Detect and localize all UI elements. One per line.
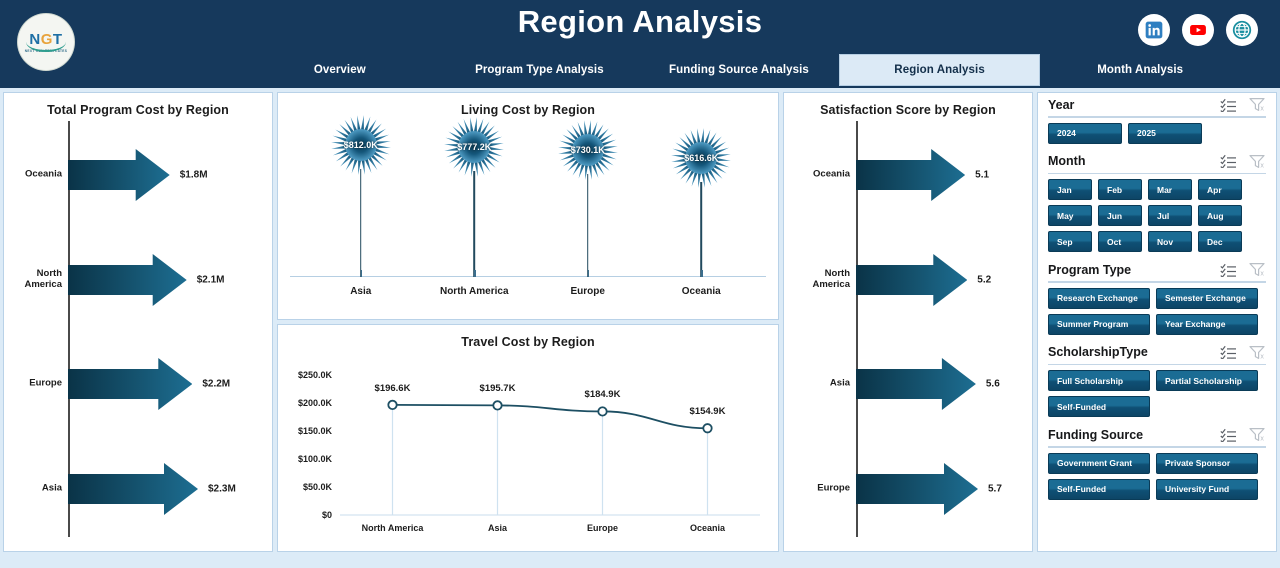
filter-header: Funding Sourcex <box>1046 423 1268 444</box>
tab-label: Month Analysis <box>1097 64 1183 76</box>
filter-header: Monthx <box>1046 150 1268 171</box>
filter-header: Yearx <box>1046 93 1268 114</box>
bar-arrow <box>68 463 198 515</box>
filter-chip-apr[interactable]: Apr <box>1198 179 1242 200</box>
main-tabs: OverviewProgram Type AnalysisFunding Sou… <box>240 54 1240 86</box>
living-cost-value-label: $616.6K <box>684 153 718 163</box>
filter-options: Full ScholarshipPartial ScholarshipSelf-… <box>1046 370 1268 423</box>
bar-value-label: $2.1M <box>197 274 225 285</box>
website-icon[interactable] <box>1226 14 1258 46</box>
filter-options: 20242025 <box>1046 123 1268 150</box>
filter-divider <box>1048 281 1266 283</box>
living-cost-value-label: $812.0K <box>344 140 378 150</box>
filter-chip-semester-exchange[interactable]: Semester Exchange <box>1156 288 1258 309</box>
chart-total-program-cost: Oceania$1.8MNorth America$2.1MEurope$2.2… <box>4 117 272 549</box>
linkedin-icon[interactable] <box>1138 14 1170 46</box>
filter-chip-research-exchange[interactable]: Research Exchange <box>1048 288 1150 309</box>
filter-section-scholarshiptype: ScholarshipTypexFull ScholarshipPartial … <box>1038 341 1276 424</box>
filter-chip-private-sponsor[interactable]: Private Sponsor <box>1156 453 1258 474</box>
tab-program-type-analysis[interactable]: Program Type Analysis <box>440 54 640 86</box>
filter-divider <box>1048 116 1266 118</box>
chart-living-cost: $812.0KAsia$777.2KNorth America$730.1KEu… <box>278 117 778 303</box>
x-axis-category-label: Asia <box>488 523 507 533</box>
filter-title: ScholarshipType <box>1048 345 1148 359</box>
lollipop-stem <box>700 182 702 277</box>
multi-select-icon[interactable] <box>1220 98 1237 112</box>
panel-satisfaction-score: Satisfaction Score by Region Oceania5.1N… <box>783 92 1033 552</box>
tab-funding-source-analysis[interactable]: Funding Source Analysis <box>639 54 839 86</box>
lollipop-stem <box>360 169 362 277</box>
multi-select-icon[interactable] <box>1220 263 1237 277</box>
x-axis-category-label: North America <box>362 523 424 533</box>
filter-chip-oct[interactable]: Oct <box>1098 231 1142 252</box>
multi-select-icon[interactable] <box>1220 345 1237 359</box>
bar-arrow <box>856 463 978 515</box>
living-cost-category-label: North America <box>418 286 532 297</box>
bar-value-label: 5.6 <box>986 379 1000 390</box>
filter-action-icons: x <box>1220 262 1266 277</box>
filter-chip-jun[interactable]: Jun <box>1098 205 1142 226</box>
bar-category-label: Europe <box>786 483 850 494</box>
filter-title: Year <box>1048 98 1074 112</box>
filter-chip-jul[interactable]: Jul <box>1148 205 1192 226</box>
clear-filter-icon[interactable]: x <box>1249 262 1266 277</box>
filter-chip-government-grant[interactable]: Government Grant <box>1048 453 1150 474</box>
tab-label: Program Type Analysis <box>475 64 604 76</box>
filter-options: JanFebMarAprMayJunJulAugSepOctNovDec <box>1046 179 1268 258</box>
travel-cost-value-label: $154.9K <box>690 406 726 417</box>
bar-category-label: Oceania <box>6 170 62 181</box>
svg-text:x: x <box>1260 435 1264 442</box>
filter-chip-mar[interactable]: Mar <box>1148 179 1192 200</box>
multi-select-icon[interactable] <box>1220 428 1237 442</box>
tab-region-analysis[interactable]: Region Analysis <box>839 54 1041 86</box>
bar-value-label: $2.3M <box>208 483 236 494</box>
filter-chip-2025[interactable]: 2025 <box>1128 123 1202 144</box>
filter-chip-nov[interactable]: Nov <box>1148 231 1192 252</box>
filter-chip-partial-scholarship[interactable]: Partial Scholarship <box>1156 370 1258 391</box>
lollipop-stem <box>473 171 475 277</box>
filter-divider <box>1048 173 1266 175</box>
bar-value-label: 5.1 <box>975 170 989 181</box>
filter-chip-may[interactable]: May <box>1048 205 1092 226</box>
bar-category-label: North America <box>6 269 62 291</box>
youtube-icon[interactable] <box>1182 14 1214 46</box>
filter-chip-summer-program[interactable]: Summer Program <box>1048 314 1150 335</box>
clear-filter-icon[interactable]: x <box>1249 427 1266 442</box>
app-header: NGT NEXT GEN TEMPLATES Region Analysis O… <box>0 0 1280 88</box>
chart-title-satisfaction-score: Satisfaction Score by Region <box>784 93 1032 117</box>
filter-chip-aug[interactable]: Aug <box>1198 205 1242 226</box>
chart-satisfaction-score: Oceania5.1North America5.2Asia5.6Europe5… <box>784 117 1032 549</box>
tab-month-analysis[interactable]: Month Analysis <box>1040 54 1240 86</box>
filter-section-program-type: Program TypexResearch ExchangeSemester E… <box>1038 258 1276 341</box>
axis-tick <box>588 270 589 277</box>
living-cost-category-label: Asia <box>304 286 418 297</box>
living-cost-category-label: Oceania <box>645 286 759 297</box>
clear-filter-icon[interactable]: x <box>1249 345 1266 360</box>
lollipop-stem <box>587 174 589 277</box>
svg-text:x: x <box>1260 105 1264 112</box>
bar-category-label: Asia <box>6 483 62 494</box>
chart-travel-cost: $0$50.0K$100.0K$150.0K$200.0K$250.0K$196… <box>278 349 778 545</box>
tab-overview[interactable]: Overview <box>240 54 440 86</box>
travel-cost-value-label: $184.9K <box>585 389 621 400</box>
tab-label: Region Analysis <box>894 64 985 76</box>
filter-divider <box>1048 446 1266 448</box>
filter-divider <box>1048 364 1266 366</box>
chart-title-living-cost: Living Cost by Region <box>278 93 778 117</box>
tab-label: Overview <box>314 64 366 76</box>
filter-chip-jan[interactable]: Jan <box>1048 179 1092 200</box>
living-cost-value-label: $777.2K <box>457 142 491 152</box>
panel-living-cost: Living Cost by Region $812.0KAsia$777.2K… <box>277 92 779 320</box>
filter-action-icons: x <box>1220 345 1266 360</box>
page-title: Region Analysis <box>0 4 1280 40</box>
filter-header: Program Typex <box>1046 258 1268 279</box>
axis-tick <box>361 270 362 277</box>
panel-travel-cost: Travel Cost by Region $0$50.0K$100.0K$15… <box>277 324 779 552</box>
x-axis-category-label: Oceania <box>690 523 725 533</box>
svg-text:x: x <box>1260 162 1264 169</box>
svg-text:x: x <box>1260 353 1264 360</box>
filter-options: Government GrantPrivate SponsorSelf-Fund… <box>1046 453 1268 506</box>
filter-header: ScholarshipTypex <box>1046 341 1268 362</box>
filter-section-month: MonthxJanFebMarAprMayJunJulAugSepOctNovD… <box>1038 150 1276 259</box>
bar-value-label: $1.8M <box>180 170 208 181</box>
bar-value-label: $2.2M <box>202 379 230 390</box>
living-cost-value-label: $730.1K <box>571 145 605 155</box>
bar-value-label: 5.7 <box>988 483 1002 494</box>
bar-arrow <box>856 254 967 306</box>
living-cost-category-label: Europe <box>531 286 645 297</box>
chart-title-total-program-cost: Total Program Cost by Region <box>4 93 272 117</box>
axis-tick <box>474 270 475 277</box>
filter-title: Month <box>1048 154 1085 168</box>
bar-arrow <box>856 358 976 410</box>
axis-tick <box>701 270 702 277</box>
tab-label: Funding Source Analysis <box>669 64 809 76</box>
travel-cost-value-label: $196.6K <box>375 383 411 394</box>
filter-chip-2024[interactable]: 2024 <box>1048 123 1122 144</box>
bar-arrow <box>856 149 965 201</box>
x-axis-category-label: Europe <box>587 523 618 533</box>
clear-filter-icon[interactable]: x <box>1249 154 1266 169</box>
bar-category-label: Asia <box>786 379 850 390</box>
bar-category-label: Europe <box>6 379 62 390</box>
bar-arrow <box>68 254 187 306</box>
filter-section-year: Yearx20242025 <box>1038 93 1276 150</box>
filter-chip-sep[interactable]: Sep <box>1048 231 1092 252</box>
filter-action-icons: x <box>1220 97 1266 112</box>
filter-action-icons: x <box>1220 427 1266 442</box>
multi-select-icon[interactable] <box>1220 154 1237 168</box>
filter-chip-self-funded[interactable]: Self-Funded <box>1048 396 1150 417</box>
filter-options: Research ExchangeSemester ExchangeSummer… <box>1046 288 1268 341</box>
bar-category-label: North America <box>786 269 850 291</box>
filter-chip-full-scholarship[interactable]: Full Scholarship <box>1048 370 1150 391</box>
bar-value-label: 5.2 <box>977 274 991 285</box>
filter-sidebar: Yearx20242025MonthxJanFebMarAprMayJunJul… <box>1037 92 1277 552</box>
chart-title-travel-cost: Travel Cost by Region <box>278 325 778 349</box>
filter-title: Funding Source <box>1048 428 1143 442</box>
filter-section-funding-source: Funding SourcexGovernment GrantPrivate S… <box>1038 423 1276 506</box>
bar-arrow <box>68 149 170 201</box>
svg-text:x: x <box>1260 270 1264 277</box>
bar-category-label: Oceania <box>786 170 850 181</box>
filter-chip-year-exchange[interactable]: Year Exchange <box>1156 314 1258 335</box>
travel-cost-plot-svg <box>278 349 778 545</box>
bar-arrow <box>68 358 192 410</box>
filter-chip-university-fund[interactable]: University Fund <box>1156 479 1258 500</box>
filter-action-icons: x <box>1220 154 1266 169</box>
filter-title: Program Type <box>1048 263 1131 277</box>
filter-chip-self-funded[interactable]: Self-Funded <box>1048 479 1150 500</box>
filter-chip-feb[interactable]: Feb <box>1098 179 1142 200</box>
filter-chip-dec[interactable]: Dec <box>1198 231 1242 252</box>
clear-filter-icon[interactable]: x <box>1249 97 1266 112</box>
social-links <box>1138 14 1258 46</box>
travel-cost-value-label: $195.7K <box>480 383 516 394</box>
dashboard-root: NGT NEXT GEN TEMPLATES Region Analysis O… <box>0 0 1280 568</box>
panel-total-program-cost: Total Program Cost by Region Oceania$1.8… <box>3 92 273 552</box>
